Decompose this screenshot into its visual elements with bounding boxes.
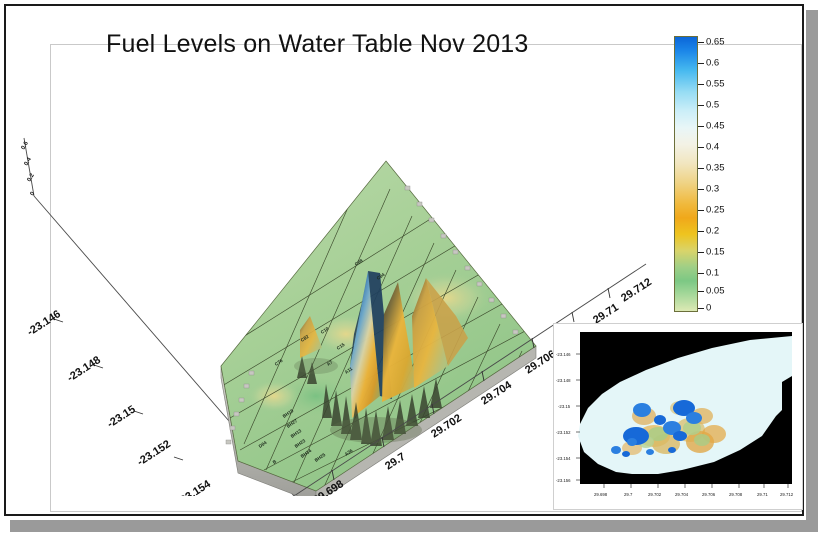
inset-y-tick-5: -23.156 xyxy=(556,478,571,483)
colorbar-tick-label-6: 0.35 xyxy=(706,162,725,173)
lat-tick-3: -23.152 xyxy=(135,438,173,468)
colorbar-tick-label-13: 0 xyxy=(706,302,711,313)
colorbar-tick-label-0: 0.65 xyxy=(706,36,725,47)
inset-x-tick-0: 29.698 xyxy=(594,492,608,497)
inset-x-axis: 29.698 29.7 29.702 29.704 29.706 29.708 … xyxy=(594,484,794,497)
inset-x-tick-7: 29.712 xyxy=(780,492,794,497)
lat-tick-0: -23.146 xyxy=(25,308,63,338)
colorbar-tick-label-2: 0.55 xyxy=(706,78,725,89)
colorbar-tick-label-1: 0.6 xyxy=(706,57,719,68)
colorbar-tick-label-11: 0.1 xyxy=(706,267,719,278)
colorbar-legend: 0.65 0.6 0.55 0.5 0.45 0.4 0.35 0.3 0.25… xyxy=(674,36,752,312)
axis-latitude-ticks xyxy=(54,319,223,496)
colorbar-tick-label-8: 0.25 xyxy=(706,204,725,215)
inset-x-tick-4: 29.706 xyxy=(702,492,716,497)
window-shadow-bottom xyxy=(10,520,818,532)
screenshot-root: Fuel Levels on Water Table Nov 2013 xyxy=(0,0,818,536)
lon-tick-7: 29.712 xyxy=(619,276,654,304)
inset-x-tick-2: 29.702 xyxy=(648,492,662,497)
colorbar-tick-label-5: 0.4 xyxy=(706,141,719,152)
colorbar-tick-label-10: 0.15 xyxy=(706,246,725,257)
lat-tick-1: -23.148 xyxy=(65,354,103,384)
colorbar-tick-label-9: 0.2 xyxy=(706,225,719,236)
z-tick-2: 0.2 xyxy=(27,172,37,183)
inset-x-tick-1: 29.7 xyxy=(624,492,633,497)
z-tick-0: 0.6 xyxy=(21,140,31,151)
inset-x-tick-6: 29.71 xyxy=(757,492,768,497)
inset-y-tick-0: -23.146 xyxy=(556,352,571,357)
colorbar-ticks: 0.65 0.6 0.55 0.5 0.45 0.4 0.35 0.3 0.25… xyxy=(698,36,752,312)
inset-y-tick-2: -23.15 xyxy=(558,404,571,409)
inset-y-tick-3: -23.152 xyxy=(556,430,571,435)
z-tick-1: 0.4 xyxy=(24,156,34,167)
lat-tick-2: -23.15 xyxy=(105,403,138,430)
inset-x-tick-3: 29.704 xyxy=(675,492,689,497)
inset-x-tick-5: 29.708 xyxy=(729,492,743,497)
window-border: Fuel Levels on Water Table Nov 2013 xyxy=(4,4,804,516)
colorbar-tick-label-12: 0.05 xyxy=(706,285,725,296)
colorbar-tick-label-3: 0.5 xyxy=(706,99,719,110)
inset-y-axis: -23.146 -23.148 -23.15 -23.152 -23.154 -… xyxy=(556,352,580,483)
inset-map-svg: -23.146 -23.148 -23.15 -23.152 -23.154 -… xyxy=(554,324,802,509)
colorbar-tick-label-4: 0.45 xyxy=(706,120,725,131)
page-title: Fuel Levels on Water Table Nov 2013 xyxy=(106,30,529,59)
window-shadow-right xyxy=(806,10,818,532)
inset-y-tick-1: -23.148 xyxy=(556,378,571,383)
axis-elevation: 0.6 0.4 0.2 0 xyxy=(21,138,37,197)
colorbar-tick-label-7: 0.3 xyxy=(706,183,719,194)
inset-y-tick-4: -23.154 xyxy=(556,456,571,461)
lat-tick-4: -23.154 xyxy=(175,478,214,496)
colorbar-gradient xyxy=(674,36,698,312)
inset-plan-map: -23.146 -23.148 -23.15 -23.152 -23.154 -… xyxy=(553,323,803,510)
